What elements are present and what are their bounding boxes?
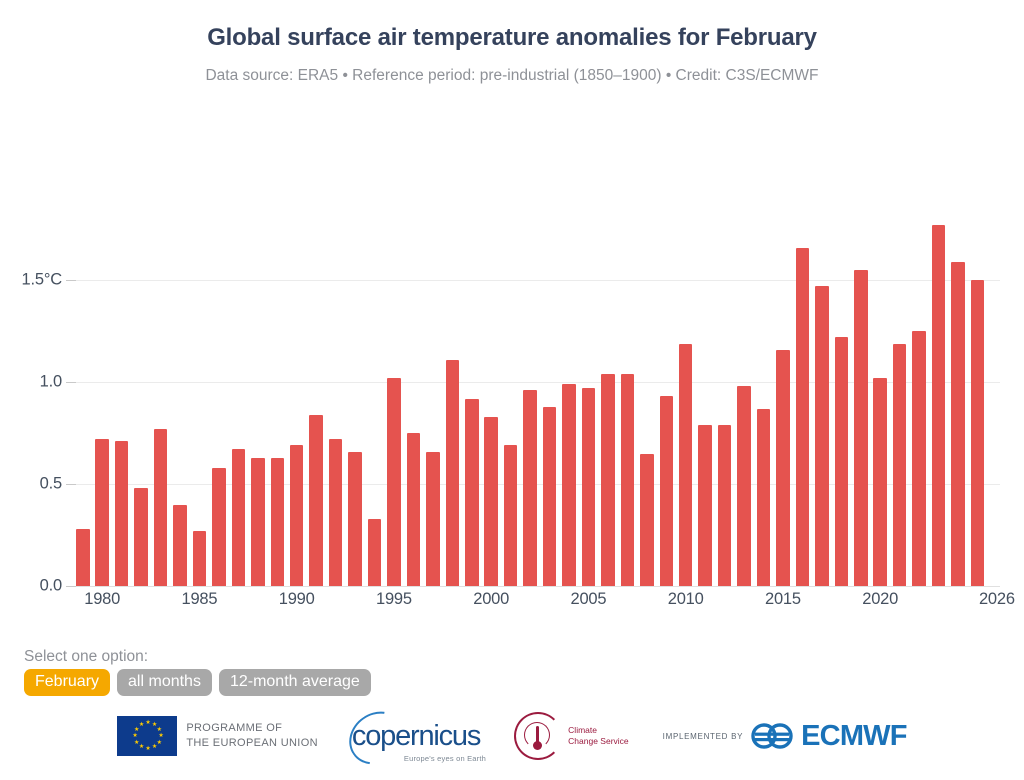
eu-flag-icon: ★★★★★★★★★★★★ <box>117 716 177 756</box>
bar[interactable] <box>873 378 887 586</box>
x-axis-tick-label: 2020 <box>862 590 898 609</box>
c3s-label: Climate Change Service <box>568 725 628 748</box>
copernicus-initial: c <box>352 720 365 752</box>
chart-plot-area: 0.00.51.01.5°C 1980198519901995200020052… <box>0 118 1024 628</box>
option-12-month-average[interactable]: 12-month average <box>219 669 371 696</box>
eu-star-icon: ★ <box>152 723 156 727</box>
bar[interactable] <box>601 374 615 586</box>
bar[interactable] <box>348 452 362 586</box>
eu-star-icon: ★ <box>139 745 143 749</box>
bar[interactable] <box>95 439 109 586</box>
ecmwf-mark-icon <box>751 723 793 749</box>
c3s-line2: Change Service <box>568 736 628 747</box>
bar[interactable] <box>912 331 926 586</box>
y-axis-tick-mark <box>66 382 76 383</box>
eu-star-icon: ★ <box>158 734 162 738</box>
bar[interactable] <box>523 390 537 586</box>
bar[interactable] <box>173 505 187 587</box>
bar[interactable] <box>134 488 148 586</box>
bar[interactable] <box>660 396 674 586</box>
bar[interactable] <box>737 386 751 586</box>
bar[interactable] <box>251 458 265 586</box>
x-axis: 1980198519901995200020052010201520202026 <box>76 590 1024 620</box>
bar[interactable] <box>951 262 965 586</box>
bar[interactable] <box>796 248 810 586</box>
bar[interactable] <box>718 425 732 586</box>
bar[interactable] <box>562 384 576 586</box>
copernicus-wordmark: copernicus <box>352 722 480 751</box>
bar[interactable] <box>776 350 790 586</box>
bar[interactable] <box>465 399 479 586</box>
bar[interactable] <box>76 529 90 586</box>
eu-logo-block: ★★★★★★★★★★★★ PROGRAMME OF THE EUROPEAN U… <box>117 716 318 756</box>
eu-star-icon: ★ <box>157 728 161 732</box>
chart-header: Global surface air temperature anomalies… <box>0 0 1024 85</box>
eu-star-icon: ★ <box>139 723 143 727</box>
x-axis-tick-label: 1990 <box>279 590 315 609</box>
c3s-thermometer-icon <box>514 712 562 760</box>
bar[interactable] <box>757 409 771 586</box>
implemented-by-label: IMPLEMENTED BY <box>663 732 743 741</box>
eu-star-icon: ★ <box>132 734 136 738</box>
option-selector: Select one option: Februaryall months12-… <box>24 648 371 696</box>
bar[interactable] <box>290 445 304 586</box>
y-axis-tick-label: 0.5 <box>0 475 62 494</box>
bar[interactable] <box>309 415 323 586</box>
bar[interactable] <box>543 407 557 586</box>
bar[interactable] <box>815 286 829 586</box>
eu-star-icon: ★ <box>134 728 138 732</box>
x-axis-tick-label: 1995 <box>376 590 412 609</box>
option-february[interactable]: February <box>24 669 110 696</box>
ecmwf-wordmark: ECMWF <box>801 722 907 751</box>
bar[interactable] <box>621 374 635 586</box>
bar[interactable] <box>446 360 460 586</box>
y-axis-tick-mark <box>66 586 76 587</box>
chart-subtitle: Data source: ERA5 • Reference period: pr… <box>0 67 1024 86</box>
eu-star-icon: ★ <box>152 745 156 749</box>
bar[interactable] <box>504 445 518 586</box>
bar[interactable] <box>212 468 226 586</box>
copernicus-logo: copernicus Europe's eyes on Earth <box>352 722 480 751</box>
copernicus-tagline: Europe's eyes on Earth <box>404 754 486 763</box>
bar[interactable] <box>835 337 849 586</box>
copernicus-word: opernicus <box>365 720 480 752</box>
bar[interactable] <box>971 280 985 586</box>
bar-series <box>76 118 1024 628</box>
bar[interactable] <box>232 449 246 586</box>
bar[interactable] <box>387 378 401 586</box>
bar[interactable] <box>893 344 907 587</box>
x-axis-tick-label: 2026 <box>979 590 1015 609</box>
bar[interactable] <box>698 425 712 586</box>
option-all-months[interactable]: all months <box>117 669 212 696</box>
bar[interactable] <box>154 429 168 586</box>
footer-logos: ★★★★★★★★★★★★ PROGRAMME OF THE EUROPEAN U… <box>0 706 1024 766</box>
eu-programme-line2: THE EUROPEAN UNION <box>186 736 318 751</box>
y-axis-tick-mark <box>66 484 76 485</box>
y-axis-tick-label: 0.0 <box>0 577 62 596</box>
y-axis-tick-label: 1.5°C <box>0 271 62 290</box>
x-axis-tick-label: 2005 <box>570 590 606 609</box>
y-axis-tick-label: 1.0 <box>0 373 62 392</box>
eu-star-icon: ★ <box>145 747 149 751</box>
bar[interactable] <box>679 344 693 587</box>
x-axis-tick-label: 1985 <box>181 590 217 609</box>
bar[interactable] <box>932 225 946 586</box>
eu-programme-line1: PROGRAMME OF <box>186 721 318 736</box>
bar[interactable] <box>271 458 285 586</box>
eu-star-icon: ★ <box>134 741 138 745</box>
c3s-logo: Climate Change Service <box>514 712 628 760</box>
bar[interactable] <box>407 433 421 586</box>
bar[interactable] <box>484 417 498 586</box>
y-axis-tick-mark <box>66 280 76 281</box>
x-axis-tick-label: 2010 <box>668 590 704 609</box>
bar[interactable] <box>426 452 440 586</box>
bar[interactable] <box>115 441 129 586</box>
ecmwf-logo: IMPLEMENTED BY ECMWF <box>663 722 907 751</box>
bar[interactable] <box>193 531 207 586</box>
selector-label: Select one option: <box>24 648 371 665</box>
x-axis-tick-label: 2015 <box>765 590 801 609</box>
eu-star-icon: ★ <box>145 721 149 725</box>
bar[interactable] <box>368 519 382 586</box>
page-title: Global surface air temperature anomalies… <box>0 24 1024 53</box>
bar[interactable] <box>640 454 654 586</box>
option-list: Februaryall months12-month average <box>24 669 371 696</box>
c3s-thermo-bulb <box>533 741 542 750</box>
x-axis-tick-label: 1980 <box>84 590 120 609</box>
eu-star-icon: ★ <box>157 741 161 745</box>
c3s-line1: Climate <box>568 725 628 736</box>
bar[interactable] <box>582 388 596 586</box>
bar[interactable] <box>854 270 868 586</box>
x-axis-tick-label: 2000 <box>473 590 509 609</box>
eu-programme-label: PROGRAMME OF THE EUROPEAN UNION <box>186 721 318 751</box>
bar[interactable] <box>329 439 343 586</box>
